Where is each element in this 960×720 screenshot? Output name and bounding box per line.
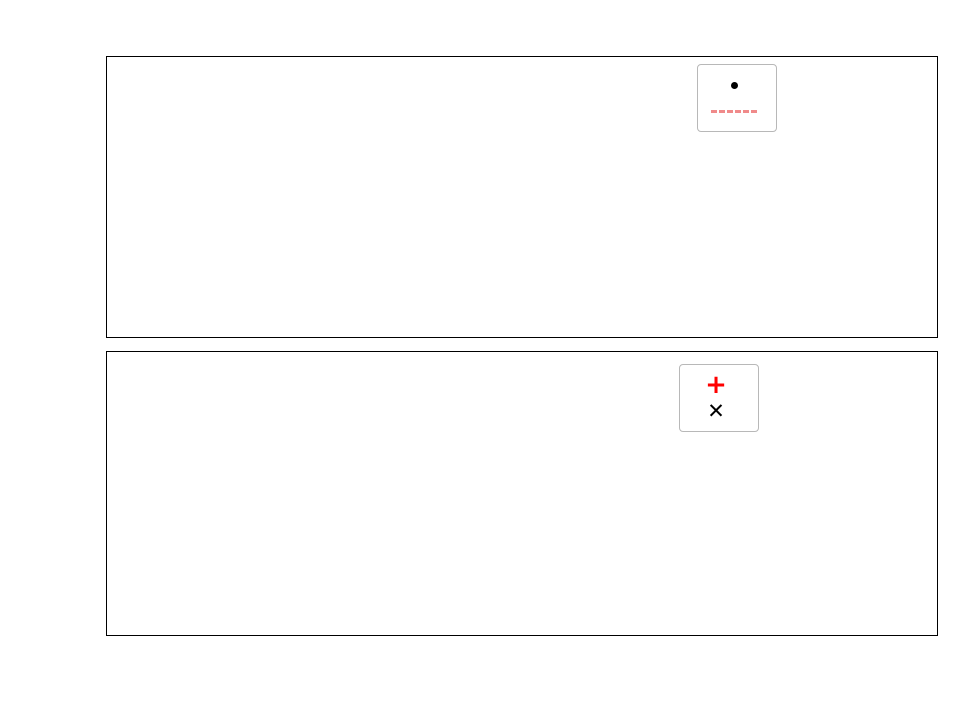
top-legend[interactable] bbox=[697, 64, 777, 132]
bottom-panel bbox=[106, 351, 938, 636]
legend-item-matched-stars: + bbox=[689, 372, 747, 398]
cross-marker-icon: ✕ bbox=[689, 399, 743, 423]
top-panel-frame bbox=[106, 56, 938, 338]
bottom-legend[interactable]: + ✕ bbox=[679, 364, 759, 432]
legend-item-measurements bbox=[707, 72, 765, 98]
legend-item-predicted-stars: ✕ bbox=[689, 398, 747, 424]
figure: + ✕ bbox=[0, 0, 960, 720]
plus-marker-icon: + bbox=[689, 370, 743, 400]
dashed-line-icon bbox=[707, 100, 761, 122]
legend-item-threshold bbox=[707, 98, 765, 124]
bottom-panel-frame bbox=[106, 351, 938, 636]
dot-icon bbox=[707, 74, 761, 96]
top-panel bbox=[106, 56, 938, 338]
